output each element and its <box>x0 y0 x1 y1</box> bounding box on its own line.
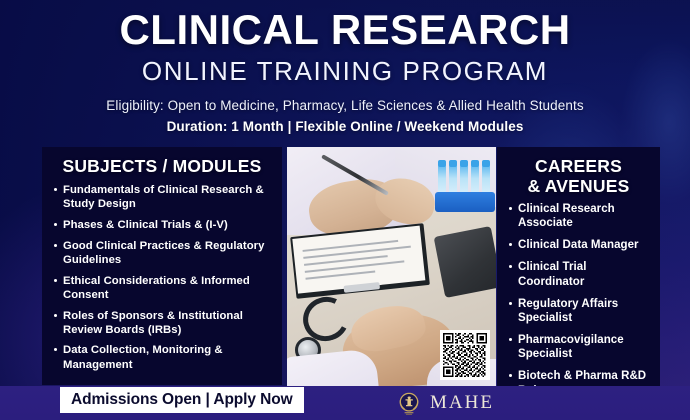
list-item: Data Collection, Monitoring & Management <box>54 343 274 371</box>
photo-test-tube-rack <box>435 156 495 212</box>
list-item: Clinical Trial Coordinator <box>509 260 654 289</box>
list-item: Regulatory Affairs Specialist <box>509 297 654 326</box>
mahe-crest-icon <box>395 389 423 417</box>
subjects-list: Fundamentals of Clinical Research & Stud… <box>42 183 282 372</box>
duration-text: Duration: 1 Month | Flexible Online / We… <box>0 119 690 134</box>
apply-now-button[interactable]: Admissions Open | Apply Now <box>60 387 304 413</box>
mahe-logo-text: MAHE <box>430 392 494 414</box>
list-item: Good Clinical Practices & Regulatory Gui… <box>54 239 274 267</box>
eligibility-text: Eligibility: Open to Medicine, Pharmacy,… <box>0 98 690 113</box>
careers-panel: CAREERS & AVENUES Clinical Research Asso… <box>497 147 660 393</box>
list-item: Clinical Data Manager <box>509 238 654 252</box>
photo-rack-base <box>435 192 495 212</box>
careers-heading-line-1: CAREERS <box>497 156 660 176</box>
careers-list: Clinical Research Associate Clinical Dat… <box>497 202 660 399</box>
qr-code[interactable] <box>440 330 490 380</box>
subjects-panel-heading: SUBJECTS / MODULES <box>42 147 282 183</box>
page-subtitle: ONLINE TRAINING PROGRAM <box>0 55 690 88</box>
careers-heading-line-2: & AVENUES <box>497 176 660 196</box>
list-item: Ethical Considerations & Informed Consen… <box>54 274 274 302</box>
clinical-consultation-photo <box>287 147 496 386</box>
list-item: Fundamentals of Clinical Research & Stud… <box>54 183 274 211</box>
subjects-panel: SUBJECTS / MODULES Fundamentals of Clini… <box>42 147 282 385</box>
page-title: CLINICAL RESEARCH <box>0 8 690 52</box>
list-item: Roles of Sponsors & Institutional Review… <box>54 309 274 337</box>
list-item: Phases & Clinical Trials & (I-V) <box>54 218 274 232</box>
mahe-logo: MAHE <box>395 389 494 417</box>
poster-header: CLINICAL RESEARCH ONLINE TRAINING PROGRA… <box>0 8 690 134</box>
photo-tablet-device <box>434 226 496 298</box>
list-item: Clinical Research Associate <box>509 202 654 231</box>
photo-paper-line <box>305 270 375 279</box>
careers-panel-heading: CAREERS & AVENUES <box>497 147 660 202</box>
list-item: Pharmacovigilance Specialist <box>509 333 654 362</box>
